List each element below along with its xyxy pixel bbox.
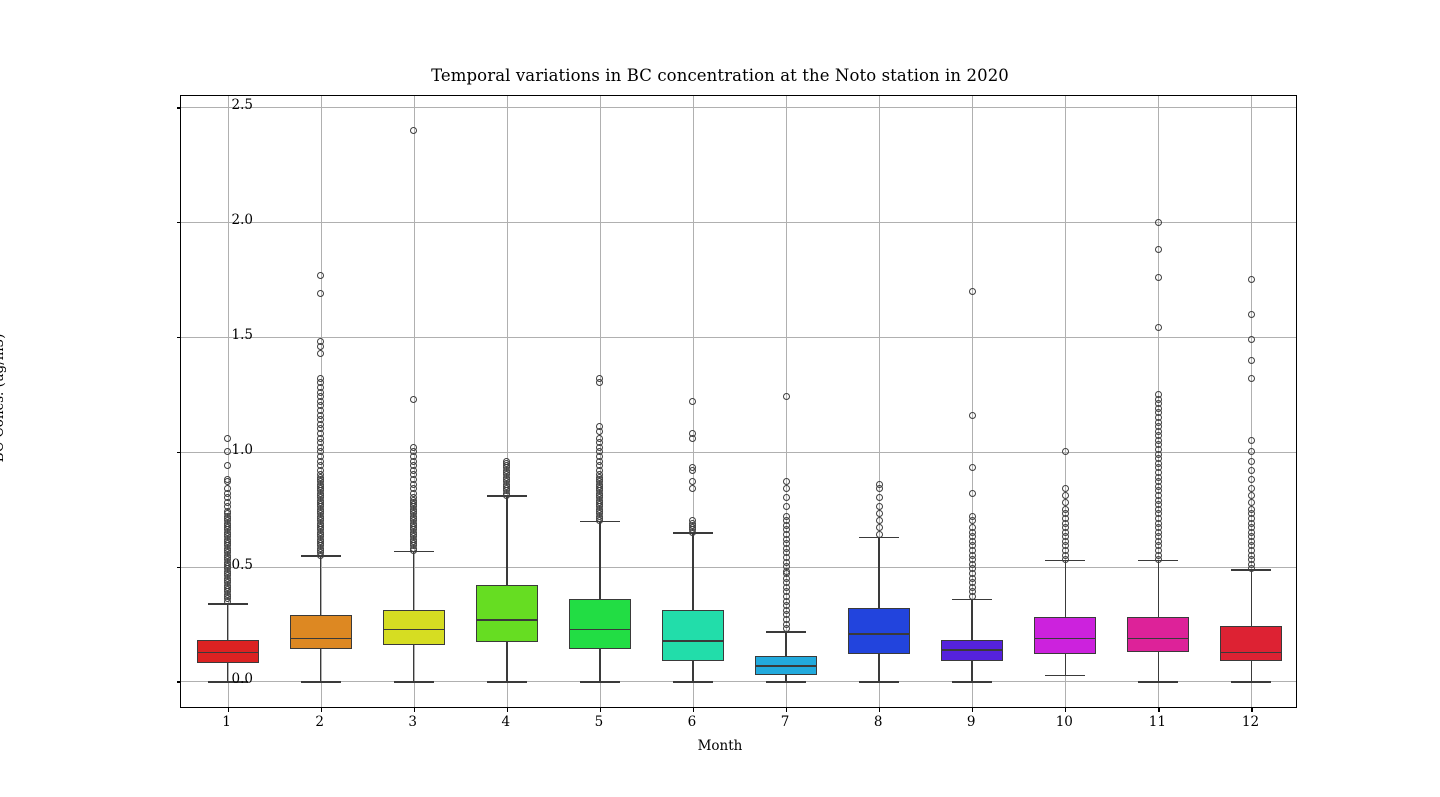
outlier-point [1248,357,1255,364]
y-tick-label: 2.0 [193,212,253,228]
x-tick-label: 2 [300,714,340,730]
y-axis-label: BC Concs. (ug/m3) [0,268,7,528]
outlier-point [1248,336,1255,343]
y-tick-label: 2.5 [193,97,253,113]
y-tick-label: 1.0 [193,442,253,458]
outlier-point [1248,437,1255,444]
y-tick-mark [177,337,182,338]
median-line [1220,652,1282,654]
whisker-lower [1251,661,1253,682]
x-tick-label: 6 [672,714,712,730]
x-tick-mark [693,707,694,712]
x-tick-label: 5 [579,714,619,730]
x-tick-mark [1251,707,1252,712]
x-tick-mark [1158,707,1159,712]
x-tick-label: 10 [1044,714,1084,730]
outlier-point [1248,506,1255,513]
plot-area [180,95,1297,708]
whisker-upper [1251,569,1253,626]
outlier-point [1248,485,1255,492]
box-rect[interactable] [1220,626,1282,660]
y-tick-mark [177,681,182,682]
x-tick-label: 1 [207,714,247,730]
x-tick-mark [600,707,601,712]
chart-title: Temporal variations in BC concentration … [0,66,1440,85]
x-axis-label: Month [0,738,1440,754]
figure-canvas: Temporal variations in BC concentration … [0,0,1440,797]
boxplot-group[interactable] [181,96,1296,707]
y-tick-mark [177,222,182,223]
x-tick-label: 7 [765,714,805,730]
x-tick-label: 11 [1137,714,1177,730]
outlier-point [1248,476,1255,483]
x-tick-label: 9 [951,714,991,730]
x-tick-mark [1065,707,1066,712]
x-tick-label: 4 [486,714,526,730]
outlier-point [1248,492,1255,499]
cap-lower [1231,681,1271,683]
x-tick-mark [321,707,322,712]
y-tick-label: 0.0 [193,671,253,687]
outlier-point [1248,499,1255,506]
x-tick-mark [786,707,787,712]
x-tick-label: 12 [1230,714,1270,730]
outlier-point [1248,375,1255,382]
y-tick-mark [177,107,182,108]
x-tick-mark [879,707,880,712]
x-tick-label: 8 [858,714,898,730]
x-tick-mark [507,707,508,712]
outlier-point [1248,311,1255,318]
outlier-point [1248,276,1255,283]
outlier-point [1248,467,1255,474]
x-tick-label: 3 [393,714,433,730]
x-tick-mark [414,707,415,712]
x-tick-mark [972,707,973,712]
y-tick-label: 1.5 [193,327,253,343]
outlier-point [1248,448,1255,455]
y-tick-mark [177,567,182,568]
outlier-point [1248,458,1255,465]
x-tick-mark [228,707,229,712]
y-tick-label: 0.5 [193,557,253,573]
y-tick-mark [177,452,182,453]
